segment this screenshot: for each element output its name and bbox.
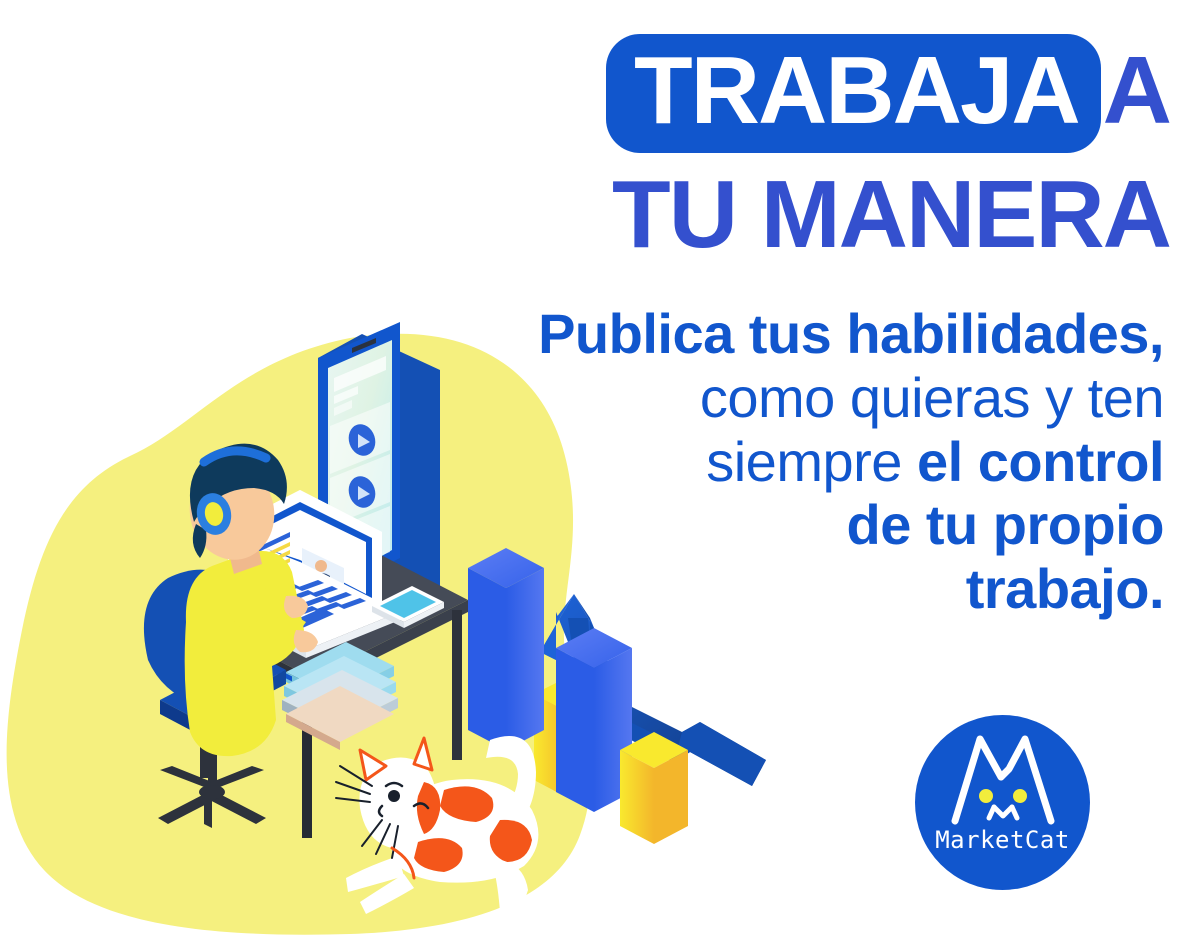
subcopy-paragraph: Publica tus habilidades, como quieras y …	[424, 302, 1164, 621]
subcopy-line-1-bold: Publica tus habilidades,	[538, 302, 1164, 365]
headline: TRABAJAA TU MANERA	[470, 34, 1170, 263]
calico-cat	[336, 736, 538, 914]
subcopy-line-4-bold: de tu propio	[846, 493, 1164, 556]
cat-eye-right-icon	[1013, 789, 1027, 803]
subcopy-line-5-bold: trabajo.	[966, 557, 1164, 620]
poster-canvas: TRABAJAA TU MANERA Publica tus habilidad…	[0, 0, 1200, 938]
subcopy-line-4: de tu propio	[424, 493, 1164, 557]
marketcat-logo[interactable]: MarketCat	[915, 715, 1090, 890]
logo-wordmark: MarketCat	[935, 826, 1070, 854]
headline-badge-word: TRABAJA	[634, 43, 1079, 139]
subcopy-line-1: Publica tus habilidades,	[424, 302, 1164, 366]
subcopy-line-2: como quieras y ten	[424, 366, 1164, 430]
logo-circle	[915, 715, 1090, 890]
subcopy-line-3-regular: siempre	[706, 430, 917, 493]
headline-line-1: TRABAJAA	[470, 34, 1170, 153]
cat-eye-left-icon	[979, 789, 993, 803]
headline-line-2: TU MANERA	[470, 167, 1170, 263]
headline-badge: TRABAJA	[606, 34, 1101, 153]
subcopy-line-5: trabajo.	[424, 557, 1164, 621]
headline-accent-word: A	[1103, 37, 1170, 144]
subcopy-line-2-regular: como quieras y ten	[700, 366, 1164, 429]
subcopy-line-3: siempre el control	[424, 430, 1164, 494]
subcopy-line-3-bold: el control	[917, 430, 1164, 493]
